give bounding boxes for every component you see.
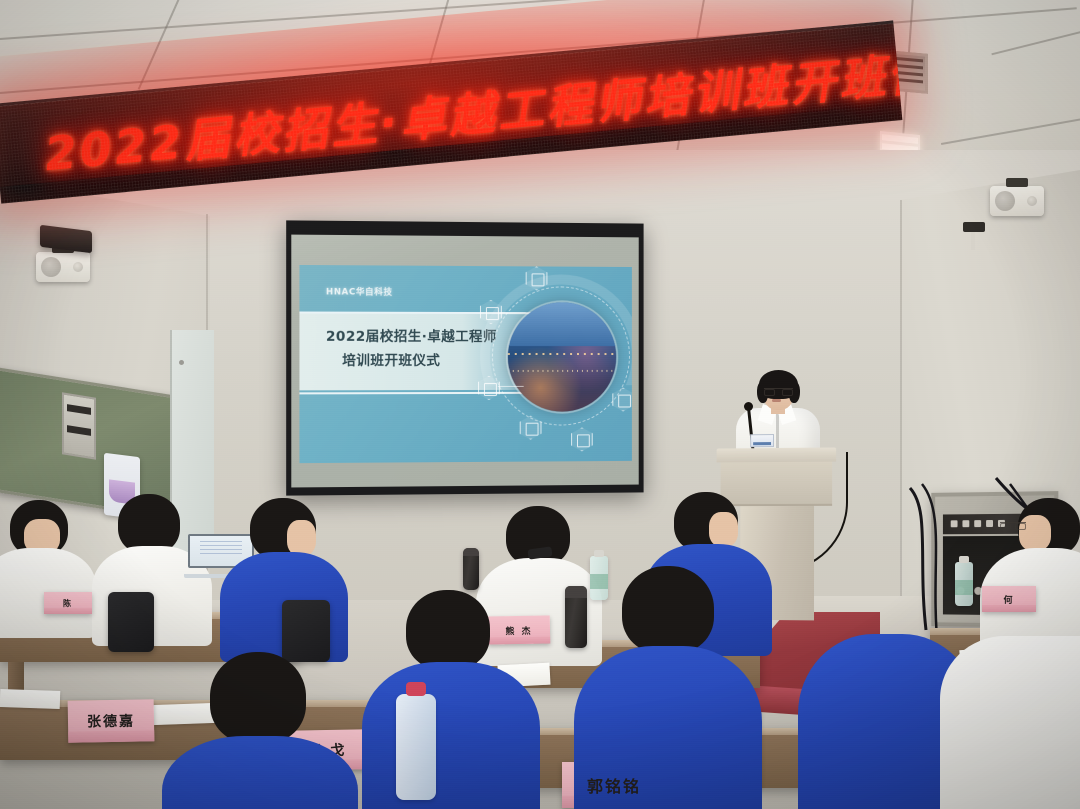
screen-surface: HNAC华自科技 2022届校招生·卓越工程师 培训班开班仪式 xyxy=(291,235,638,488)
glasses-icon xyxy=(764,388,793,395)
attendee-white-front-right xyxy=(940,636,1080,809)
glasses-icon-attendee xyxy=(1000,522,1026,529)
training-room-photo: 2022届校招生·卓越工程师培训班开班仪式 HNAC华自科技 2022届校招生·… xyxy=(0,0,1080,809)
water-bottle-pink-strap[interactable] xyxy=(396,694,436,800)
slide-artwork xyxy=(468,268,632,460)
electrical-panel xyxy=(62,392,96,459)
thermos-flask-2[interactable] xyxy=(463,548,479,590)
wall-speaker-right-icon xyxy=(990,186,1044,216)
water-bottle-2[interactable] xyxy=(955,562,973,606)
name-card-right: 何 xyxy=(982,586,1036,612)
projection-screen: HNAC华自科技 2022届校招生·卓越工程师 培训班开班仪式 xyxy=(286,220,643,495)
attendee-white-right xyxy=(992,498,1080,648)
name-card-back-left: 陈 xyxy=(44,592,92,614)
name-card-zhangdejia: 张德嘉 xyxy=(68,699,155,742)
wall-speaker-icon xyxy=(36,252,90,282)
presenter-name-badge xyxy=(750,434,774,447)
attendee-blue-front-1 xyxy=(168,652,348,809)
ceiling-camera-icon xyxy=(963,222,985,232)
hex-icon-5 xyxy=(571,427,593,451)
presenter-mouth xyxy=(772,399,781,402)
chair-1[interactable] xyxy=(108,592,154,652)
hnac-logo: HNAC华自科技 xyxy=(326,285,393,297)
attendee-blue-front-2 xyxy=(370,590,530,809)
city-night-photo xyxy=(508,302,616,412)
papers-2[interactable] xyxy=(0,689,60,709)
presentation-slide: HNAC华自科技 2022届校招生·卓越工程师 培训班开班仪式 xyxy=(299,265,631,463)
